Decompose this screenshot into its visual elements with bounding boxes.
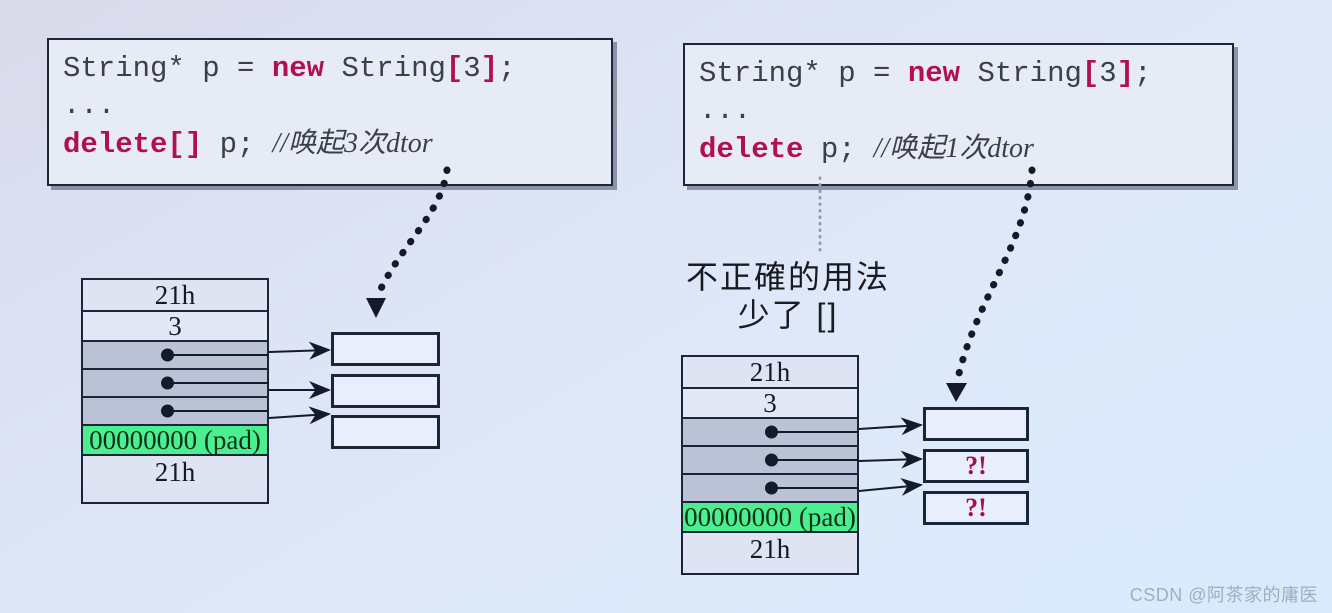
left-memrow-count: 3: [83, 312, 267, 342]
right-code-line1-bracket-close: ]: [1117, 57, 1134, 90]
left-memrow-pointer-2: [83, 370, 267, 398]
pointer-stub-line: [771, 487, 859, 489]
left-memrow-pointer-3: [83, 398, 267, 426]
right-target-box-3: ?!: [923, 491, 1029, 525]
left-memrow-cookie-bottom: 21h: [83, 456, 267, 488]
right-code-line1-keyword: new: [908, 57, 960, 90]
pointer-stub-line: [167, 410, 269, 412]
left-target-box-2: [331, 374, 440, 408]
right-memrow-cookie-bottom: 21h: [683, 533, 857, 565]
left-code-box: String* p = new String[3]; ... delete[] …: [47, 38, 613, 186]
left-code-line1-bracket-open: [: [446, 52, 463, 85]
left-code-line1-post: String: [324, 52, 446, 85]
left-memrow-pad: 00000000 (pad): [83, 426, 267, 456]
left-code-line3-brackets: []: [167, 128, 202, 161]
pointer-stub-line: [771, 431, 859, 433]
right-memrow-pad: 00000000 (pad): [683, 503, 857, 533]
left-memory-block: 21h 3 00000000 (pad) 21h: [81, 278, 269, 504]
right-code-line-2: ...: [699, 94, 1218, 128]
left-code-line1-bracket-close: ]: [481, 52, 498, 85]
left-dotted-callout-arrow: [366, 170, 447, 318]
right-code-line1-bracket-open: [: [1082, 57, 1099, 90]
left-code-line3-comment: //唤起3次dtor: [272, 128, 432, 159]
pointer-stub-line: [167, 382, 269, 384]
right-code-line1-post: String: [960, 57, 1082, 90]
right-memrow-count: 3: [683, 389, 857, 419]
left-code-line3-keyword: delete: [63, 128, 167, 161]
right-code-line3-comment: //唤起1次dtor: [874, 133, 1034, 164]
left-target-box-3: [331, 415, 440, 449]
left-code-line-1: String* p = new String[3];: [63, 48, 597, 89]
right-target-box-2: ?!: [923, 449, 1029, 483]
right-code-box: String* p = new String[3]; ... delete p;…: [683, 43, 1234, 186]
right-memrow-pointer-2: [683, 447, 857, 475]
right-code-line1-pre: String* p =: [699, 57, 908, 90]
pointer-stub-line: [167, 354, 269, 356]
right-target-box-1: [923, 407, 1029, 441]
right-code-line3-keyword: delete: [699, 133, 803, 166]
left-pointer-arrows: [269, 350, 329, 418]
left-code-line-3: delete[] p;//唤起3次dtor: [63, 123, 597, 165]
left-memrow-pointer-1: [83, 342, 267, 370]
left-code-line1-index: 3: [463, 52, 480, 85]
right-memory-block: 21h 3 00000000 (pad) 21h: [681, 355, 859, 575]
left-code-line3-post: p;: [202, 128, 254, 161]
right-memrow-pointer-1: [683, 419, 857, 447]
left-code-line1-pre: String* p =: [63, 52, 272, 85]
left-memrow-cookie-top: 21h: [83, 280, 267, 312]
csdn-watermark: CSDN @阿茶家的庸医: [1130, 581, 1318, 607]
right-code-line1-semicolon: ;: [1134, 57, 1151, 90]
right-memrow-cookie-top: 21h: [683, 357, 857, 389]
left-code-line1-semicolon: ;: [498, 52, 515, 85]
right-memrow-pointer-3: [683, 475, 857, 503]
right-code-line-1: String* p = new String[3];: [699, 53, 1218, 94]
incorrect-usage-annotation: 不正確的用法 少了 []: [663, 258, 913, 334]
right-dotted-callout-arrow: [946, 170, 1032, 402]
right-pointer-arrows: [859, 425, 921, 491]
left-code-line-2: ...: [63, 89, 597, 123]
right-code-line1-index: 3: [1099, 57, 1116, 90]
pointer-stub-line: [771, 459, 859, 461]
right-code-line-3: delete p;//唤起1次dtor: [699, 128, 1218, 170]
left-target-box-1: [331, 332, 440, 366]
left-code-line1-keyword: new: [272, 52, 324, 85]
right-code-line3-post: p;: [803, 133, 855, 166]
